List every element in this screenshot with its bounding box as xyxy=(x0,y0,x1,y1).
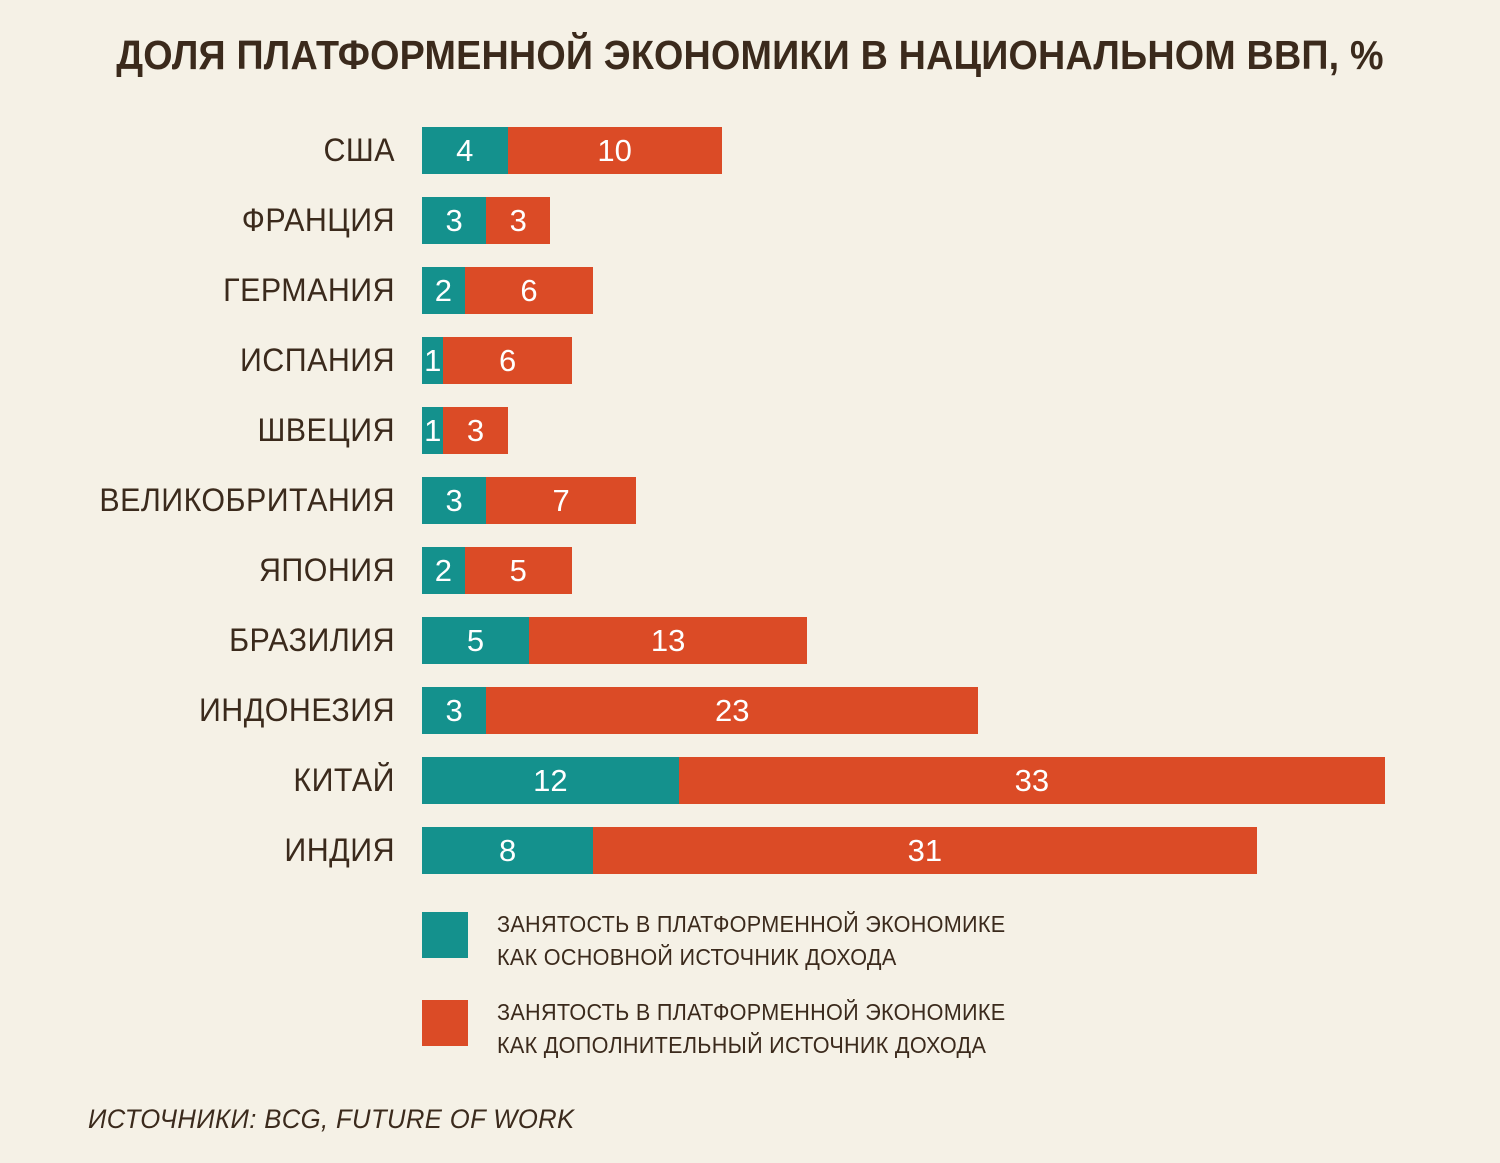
legend-label: ЗАНЯТОСТЬ В ПЛАТФОРМЕННОЙ ЭКОНОМИКЕКАК О… xyxy=(497,908,1005,974)
bar-track: 323 xyxy=(422,687,978,734)
bar-value-label: 3 xyxy=(467,415,484,446)
legend-item: ЗАНЯТОСТЬ В ПЛАТФОРМЕННОЙ ЭКОНОМИКЕКАК О… xyxy=(422,908,1322,996)
page-title: ДОЛЯ ПЛАТФОРМЕННОЙ ЭКОНОМИКИ В НАЦИОНАЛЬ… xyxy=(60,32,1440,79)
bar-row: КИТАЙ1233 xyxy=(0,757,1500,827)
bar-segment-secondary: 6 xyxy=(465,267,593,314)
bar-track: 16 xyxy=(422,337,572,384)
bar-row: США410 xyxy=(0,127,1500,197)
bar-track: 410 xyxy=(422,127,722,174)
bar-segment-primary: 5 xyxy=(422,617,529,664)
legend-label-line1: ЗАНЯТОСТЬ В ПЛАТФОРМЕННОЙ ЭКОНОМИКЕ xyxy=(497,996,1005,1029)
bar-row: ФРАНЦИЯ33 xyxy=(0,197,1500,267)
bar-row-label: ШВЕЦИЯ xyxy=(20,407,395,454)
legend-label: ЗАНЯТОСТЬ В ПЛАТФОРМЕННОЙ ЭКОНОМИКЕКАК Д… xyxy=(497,996,1005,1062)
bar-value-label: 1 xyxy=(424,415,441,446)
bar-track: 13 xyxy=(422,407,508,454)
bar-row: ИНДОНЕЗИЯ323 xyxy=(0,687,1500,757)
bar-value-label: 3 xyxy=(445,205,462,236)
bar-value-label: 4 xyxy=(456,135,473,166)
bar-value-label: 5 xyxy=(467,625,484,656)
bar-track: 33 xyxy=(422,197,550,244)
chart-root: ДОЛЯ ПЛАТФОРМЕННОЙ ЭКОНОМИКИ В НАЦИОНАЛЬ… xyxy=(0,0,1500,1163)
bar-segment-primary: 2 xyxy=(422,267,465,314)
bar-segment-primary: 2 xyxy=(422,547,465,594)
bar-row-label: ФРАНЦИЯ xyxy=(20,197,395,244)
bar-row: ГЕРМАНИЯ26 xyxy=(0,267,1500,337)
bar-track: 513 xyxy=(422,617,807,664)
bar-segment-secondary: 13 xyxy=(529,617,807,664)
bar-segment-secondary: 3 xyxy=(486,197,550,244)
bar-segment-primary: 3 xyxy=(422,687,486,734)
bar-row-label: БРАЗИЛИЯ xyxy=(20,617,395,664)
bar-value-label: 3 xyxy=(445,695,462,726)
bar-row-label: ВЕЛИКОБРИТАНИЯ xyxy=(20,477,395,524)
bar-chart-plot-area: США410ФРАНЦИЯ33ГЕРМАНИЯ26ИСПАНИЯ16ШВЕЦИЯ… xyxy=(0,127,1500,897)
bar-value-label: 8 xyxy=(499,835,516,866)
bar-row-label: ИСПАНИЯ xyxy=(20,337,395,384)
bar-value-label: 3 xyxy=(445,485,462,516)
bar-row-label: ИНДОНЕЗИЯ xyxy=(20,687,395,734)
bar-track: 26 xyxy=(422,267,593,314)
bar-row: ЯПОНИЯ25 xyxy=(0,547,1500,617)
bar-track: 831 xyxy=(422,827,1257,874)
bar-value-label: 12 xyxy=(533,765,567,796)
legend-label-line2: КАК ОСНОВНОЙ ИСТОЧНИК ДОХОДА xyxy=(497,941,1005,974)
bar-segment-secondary: 33 xyxy=(679,757,1385,804)
bar-row: ИСПАНИЯ16 xyxy=(0,337,1500,407)
bar-row-label: ЯПОНИЯ xyxy=(20,547,395,594)
bar-row: ШВЕЦИЯ13 xyxy=(0,407,1500,477)
bar-row: ВЕЛИКОБРИТАНИЯ37 xyxy=(0,477,1500,547)
bar-row-label: КИТАЙ xyxy=(20,757,395,804)
bar-value-label: 2 xyxy=(435,275,452,306)
legend-swatch-secondary xyxy=(422,1000,468,1046)
legend-label-line2: КАК ДОПОЛНИТЕЛЬНЫЙ ИСТОЧНИК ДОХОДА xyxy=(497,1029,1005,1062)
bar-value-label: 2 xyxy=(435,555,452,586)
bar-segment-primary: 1 xyxy=(422,337,443,384)
bar-segment-primary: 8 xyxy=(422,827,593,874)
bar-track: 25 xyxy=(422,547,572,594)
bar-segment-primary: 3 xyxy=(422,477,486,524)
bar-segment-secondary: 6 xyxy=(443,337,571,384)
bar-value-label: 13 xyxy=(651,625,685,656)
legend-swatch-primary xyxy=(422,912,468,958)
bar-value-label: 10 xyxy=(597,135,631,166)
chart-legend: ЗАНЯТОСТЬ В ПЛАТФОРМЕННОЙ ЭКОНОМИКЕКАК О… xyxy=(422,908,1322,1084)
bar-segment-primary: 3 xyxy=(422,197,486,244)
bar-value-label: 33 xyxy=(1015,765,1049,796)
bar-value-label: 6 xyxy=(520,275,537,306)
bar-track: 1233 xyxy=(422,757,1385,804)
bar-segment-secondary: 5 xyxy=(465,547,572,594)
source-note: ИСТОЧНИКИ: BCG, FUTURE OF WORK xyxy=(88,1104,575,1135)
bar-segment-primary: 4 xyxy=(422,127,508,174)
bar-row-label: ИНДИЯ xyxy=(20,827,395,874)
bar-row-label: ГЕРМАНИЯ xyxy=(20,267,395,314)
bar-value-label: 6 xyxy=(499,345,516,376)
bar-segment-secondary: 7 xyxy=(486,477,636,524)
bar-value-label: 23 xyxy=(715,695,749,726)
bar-value-label: 3 xyxy=(510,205,527,236)
legend-label-line1: ЗАНЯТОСТЬ В ПЛАТФОРМЕННОЙ ЭКОНОМИКЕ xyxy=(497,908,1005,941)
legend-item: ЗАНЯТОСТЬ В ПЛАТФОРМЕННОЙ ЭКОНОМИКЕКАК Д… xyxy=(422,996,1322,1084)
bar-value-label: 5 xyxy=(510,555,527,586)
bar-segment-primary: 12 xyxy=(422,757,679,804)
bar-value-label: 31 xyxy=(908,835,942,866)
bar-row: БРАЗИЛИЯ513 xyxy=(0,617,1500,687)
bar-value-label: 7 xyxy=(552,485,569,516)
bar-row-label: США xyxy=(20,127,395,174)
bar-segment-secondary: 31 xyxy=(593,827,1256,874)
bar-segment-secondary: 10 xyxy=(508,127,722,174)
bar-row: ИНДИЯ831 xyxy=(0,827,1500,897)
bar-track: 37 xyxy=(422,477,636,524)
bar-segment-secondary: 3 xyxy=(443,407,507,454)
bar-segment-primary: 1 xyxy=(422,407,443,454)
bar-segment-secondary: 23 xyxy=(486,687,978,734)
bar-value-label: 1 xyxy=(424,345,441,376)
